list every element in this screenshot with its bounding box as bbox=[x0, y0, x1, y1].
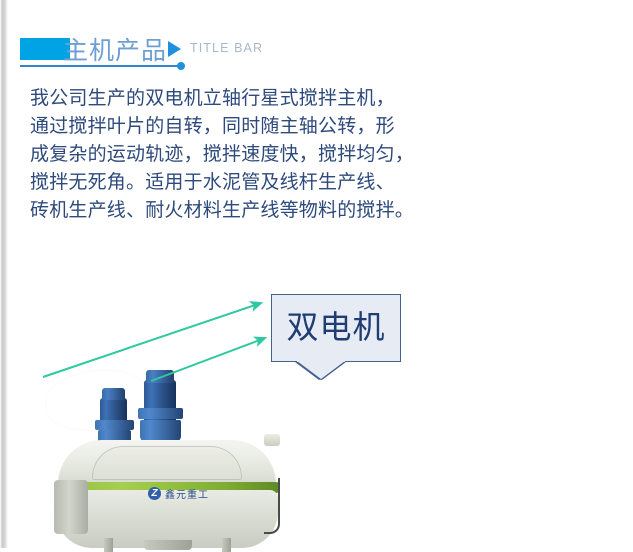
product-description: 我公司生产的双电机立轴行星式搅拌主机， 通过搅拌叶片的自转，同时随主轴公转，形 … bbox=[30, 84, 460, 224]
callout-tail bbox=[297, 361, 345, 379]
callout-tail-mask bbox=[297, 359, 345, 362]
callout-label: 双电机 bbox=[272, 295, 400, 360]
left-edge-strip bbox=[0, 0, 8, 548]
title-bar: 主机产品 TITLE BAR bbox=[8, 36, 308, 78]
drum-leg-center bbox=[144, 540, 192, 550]
motor-right-cap bbox=[146, 370, 174, 383]
page-title: 主机产品 bbox=[63, 31, 167, 67]
title-subtitle: TITLE BAR bbox=[190, 41, 263, 55]
brand-logo-mark: Z bbox=[148, 487, 161, 500]
brand-logo-text: 鑫元重工 bbox=[165, 486, 209, 501]
drum-leg-right bbox=[222, 538, 231, 552]
callout-box: 双电机 bbox=[271, 294, 401, 362]
play-triangle-icon bbox=[168, 41, 181, 57]
title-underline bbox=[20, 65, 181, 67]
drum-leg-left bbox=[104, 538, 113, 552]
motor-left-band bbox=[95, 420, 134, 430]
motor-left-cap bbox=[102, 388, 125, 400]
motor-right-gearbox bbox=[140, 420, 181, 442]
drum-lid-seam bbox=[92, 446, 242, 480]
drum-cable bbox=[264, 478, 280, 534]
brand-logo: Z 鑫元重工 bbox=[148, 486, 209, 501]
drum-outlet-port bbox=[264, 434, 280, 446]
title-underline-dot bbox=[177, 62, 185, 70]
motor-right-band bbox=[138, 408, 183, 419]
product-photo: Z 鑫元重工 bbox=[40, 360, 300, 548]
drum-side-housing bbox=[54, 480, 88, 534]
